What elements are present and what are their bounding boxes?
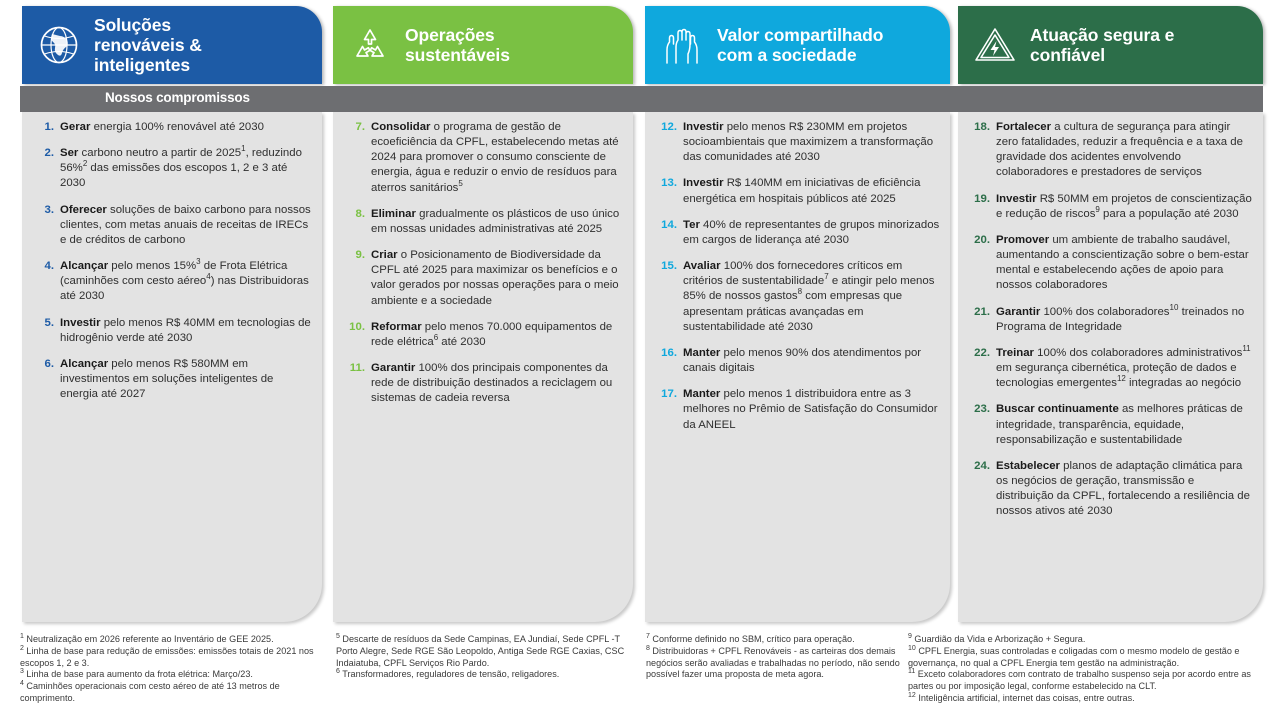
commitment-text: Ser carbono neutro a partir de 20251, re…: [60, 146, 312, 191]
commitment-text: Investir R$ 140MM em iniciativas de efic…: [683, 176, 940, 206]
category-title: Operações sustentáveis: [405, 25, 510, 66]
commitment-item: 21.Garantir 100% dos colaboradores10 tre…: [968, 305, 1253, 335]
footnote-text: 7 Conforme definido no SBM, crítico para…: [646, 634, 904, 681]
commitment-number: 16.: [655, 346, 677, 361]
footnote-text: 5 Descarte de resíduos da Sede Campinas,…: [336, 634, 641, 681]
commitment-item: 18.Fortalecer a cultura de segurança par…: [968, 120, 1253, 181]
commitment-text: Garantir 100% dos colaboradores10 treina…: [996, 305, 1253, 335]
commitments-list: 12.Investir pelo menos R$ 230MM em proje…: [655, 120, 940, 433]
commitment-number: 22.: [968, 346, 990, 361]
commitment-number: 21.: [968, 305, 990, 320]
commitment-number: 9.: [343, 248, 365, 263]
category-header-solucoes-renovaveis[interactable]: Soluções renováveis & inteligentes: [22, 6, 322, 84]
commitment-item: 16.Manter pelo menos 90% dos atendimento…: [655, 346, 940, 376]
commitment-text: Estabelecer planos de adaptação climátic…: [996, 459, 1253, 520]
commitment-text: Criar o Posicionamento de Biodiversidade…: [371, 248, 623, 309]
commitment-item: 9.Criar o Posicionamento de Biodiversida…: [343, 248, 623, 309]
commitment-item: 22.Treinar 100% dos colaboradores admini…: [968, 346, 1253, 391]
category-header-operacoes-sustentaveis[interactable]: Operações sustentáveis: [333, 6, 633, 84]
category-header-row: Soluções renováveis & inteligentes Opera…: [0, 6, 1280, 84]
commitment-text: Treinar 100% dos colaboradores administr…: [996, 346, 1253, 391]
commitment-number: 7.: [343, 120, 365, 135]
commitment-number: 12.: [655, 120, 677, 135]
commitments-column-operacoes: 7.Consolidar o programa de gestão de eco…: [333, 112, 633, 622]
commitment-number: 13.: [655, 176, 677, 191]
commitment-number: 10.: [343, 320, 365, 335]
category-title: Soluções renováveis & inteligentes: [94, 15, 202, 76]
commitment-number: 24.: [968, 459, 990, 474]
commitment-item: 15.Avaliar 100% dos fornecedores crítico…: [655, 259, 940, 335]
commitment-text: Consolidar o programa de gestão de ecoef…: [371, 120, 623, 196]
commitment-item: 19.Investir R$ 50MM em projetos de consc…: [968, 192, 1253, 222]
commitment-text: Oferecer soluções de baixo carbono para …: [60, 203, 312, 248]
commitment-number: 14.: [655, 218, 677, 233]
globe-icon: [36, 22, 82, 68]
nossos-compromissos-band: Nossos compromissos: [20, 86, 1263, 112]
commitment-number: 11.: [343, 361, 365, 376]
commitment-text: Garantir 100% dos principais componentes…: [371, 361, 623, 406]
commitment-number: 17.: [655, 387, 677, 402]
commitments-column-atuacao: 18.Fortalecer a cultura de segurança par…: [958, 112, 1263, 622]
commitment-item: 7.Consolidar o programa de gestão de eco…: [343, 120, 623, 196]
footnotes-column-2: 5 Descarte de resíduos da Sede Campinas,…: [336, 634, 641, 681]
commitment-text: Reformar pelo menos 70.000 equipamentos …: [371, 320, 623, 350]
commitment-text: Promover um ambiente de trabalho saudáve…: [996, 233, 1253, 294]
commitment-number: 3.: [32, 203, 54, 218]
commitment-item: 8.Eliminar gradualmente os plásticos de …: [343, 207, 623, 237]
commitment-item: 17.Manter pelo menos 1 distribuidora ent…: [655, 387, 940, 432]
commitment-item: 1.Gerar energia 100% renovável até 2030: [32, 120, 312, 135]
commitment-item: 4.Alcançar pelo menos 15%3 de Frota Elét…: [32, 259, 312, 304]
safety-bolt-icon: [972, 22, 1018, 68]
commitment-text: Alcançar pelo menos 15%3 de Frota Elétri…: [60, 259, 312, 304]
commitment-item: 11.Garantir 100% dos principais componen…: [343, 361, 623, 406]
commitment-number: 15.: [655, 259, 677, 274]
commitment-text: Fortalecer a cultura de segurança para a…: [996, 120, 1253, 181]
commitment-text: Investir pelo menos R$ 40MM em tecnologi…: [60, 316, 312, 346]
commitments-list: 7.Consolidar o programa de gestão de eco…: [343, 120, 623, 407]
commitment-item: 10.Reformar pelo menos 70.000 equipament…: [343, 320, 623, 350]
raised-hands-icon: [659, 22, 705, 68]
commitment-text: Manter pelo menos 90% dos atendimentos p…: [683, 346, 940, 376]
commitment-item: 24.Estabelecer planos de adaptação climá…: [968, 459, 1253, 520]
commitment-text: Avaliar 100% dos fornecedores críticos e…: [683, 259, 940, 335]
footnotes-column-4: 9 Guardião da Vida e Arborização + Segur…: [908, 634, 1273, 705]
commitments-list: 1.Gerar energia 100% renovável até 20302…: [32, 120, 312, 402]
commitment-number: 6.: [32, 357, 54, 372]
commitments-column-solucoes: 1.Gerar energia 100% renovável até 20302…: [22, 112, 322, 622]
commitment-text: Manter pelo menos 1 distribuidora entre …: [683, 387, 940, 432]
commitments-list: 18.Fortalecer a cultura de segurança par…: [968, 120, 1253, 519]
category-title: Atuação segura e confiável: [1030, 25, 1174, 66]
commitment-text: Gerar energia 100% renovável até 2030: [60, 120, 312, 135]
commitment-item: 5.Investir pelo menos R$ 40MM em tecnolo…: [32, 316, 312, 346]
commitment-text: Ter 40% de representantes de grupos mino…: [683, 218, 940, 248]
category-header-atuacao-segura[interactable]: Atuação segura e confiável: [958, 6, 1263, 84]
commitment-number: 23.: [968, 402, 990, 417]
footnote-text: 9 Guardião da Vida e Arborização + Segur…: [908, 634, 1273, 705]
commitment-item: 6.Alcançar pelo menos R$ 580MM em invest…: [32, 357, 312, 402]
commitment-number: 19.: [968, 192, 990, 207]
commitment-number: 1.: [32, 120, 54, 135]
footnotes-column-3: 7 Conforme definido no SBM, crítico para…: [646, 634, 904, 681]
commitment-number: 4.: [32, 259, 54, 274]
commitment-text: Buscar continuamente as melhores prática…: [996, 402, 1253, 447]
footnotes-column-1: 1 Neutralização em 2026 referente ao Inv…: [20, 634, 330, 705]
commitment-text: Investir pelo menos R$ 230MM em projetos…: [683, 120, 940, 165]
category-header-valor-compartilhado[interactable]: Valor compartilhado com a sociedade: [645, 6, 950, 84]
commitment-text: Eliminar gradualmente os plásticos de us…: [371, 207, 623, 237]
commitment-item: 2.Ser carbono neutro a partir de 20251, …: [32, 146, 312, 191]
footnote-text: 1 Neutralização em 2026 referente ao Inv…: [20, 634, 330, 705]
commitment-text: Investir R$ 50MM em projetos de conscien…: [996, 192, 1253, 222]
commitment-number: 8.: [343, 207, 365, 222]
commitment-item: 23.Buscar continuamente as melhores prát…: [968, 402, 1253, 447]
commitment-number: 5.: [32, 316, 54, 331]
commitment-item: 3.Oferecer soluções de baixo carbono par…: [32, 203, 312, 248]
commitment-number: 2.: [32, 146, 54, 161]
commitment-number: 20.: [968, 233, 990, 248]
category-title: Valor compartilhado com a sociedade: [717, 25, 883, 66]
commitment-item: 14.Ter 40% de representantes de grupos m…: [655, 218, 940, 248]
band-label: Nossos compromissos: [105, 90, 250, 105]
commitments-slide: Soluções renováveis & inteligentes Opera…: [0, 0, 1280, 720]
commitment-item: 20.Promover um ambiente de trabalho saud…: [968, 233, 1253, 294]
commitments-column-valor: 12.Investir pelo menos R$ 230MM em proje…: [645, 112, 950, 622]
commitment-item: 12.Investir pelo menos R$ 230MM em proje…: [655, 120, 940, 165]
commitment-number: 18.: [968, 120, 990, 135]
commitment-text: Alcançar pelo menos R$ 580MM em investim…: [60, 357, 312, 402]
commitment-item: 13.Investir R$ 140MM em iniciativas de e…: [655, 176, 940, 206]
recycle-icon: [347, 22, 393, 68]
